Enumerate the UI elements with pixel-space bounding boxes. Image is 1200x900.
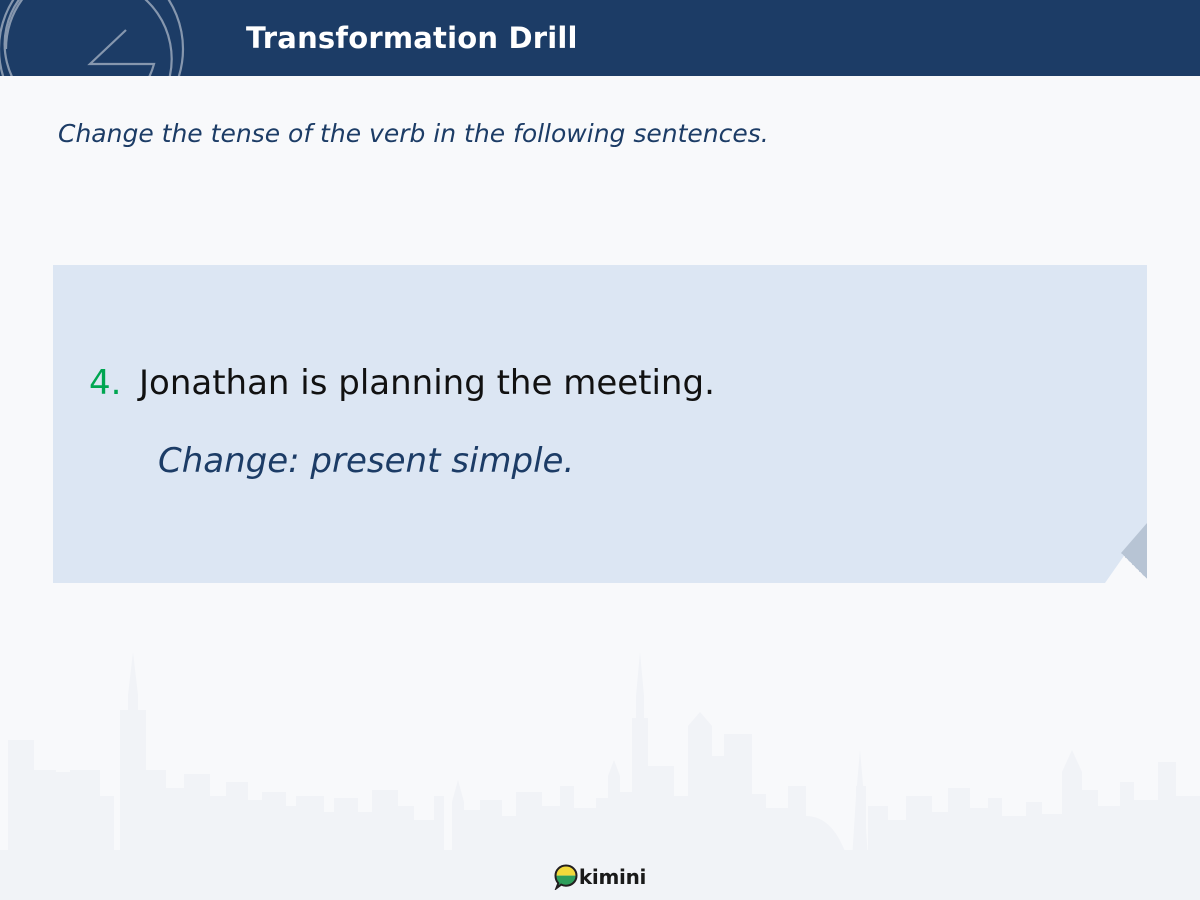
city-skyline-icon <box>0 600 1200 900</box>
slide-root: Transformation Drill Change the tense of… <box>0 0 1200 900</box>
kimini-logo: kimini <box>554 864 646 890</box>
question-row: 4. Jonathan is planning the meeting. <box>89 363 715 403</box>
question-number: 4. <box>89 363 139 403</box>
slide-footer: kimini <box>0 858 1200 896</box>
page-title: Transformation Drill <box>246 0 578 76</box>
slide-header: Transformation Drill <box>0 0 1200 76</box>
g-monogram-icon <box>0 0 196 76</box>
question-sentence: Jonathan is planning the meeting. <box>139 363 715 403</box>
kimini-wordmark: kimini <box>579 865 646 889</box>
card-content: 4. Jonathan is planning the meeting. Cha… <box>53 265 1147 583</box>
question-change-instruction: Change: present simple. <box>158 441 574 481</box>
instruction-text: Change the tense of the verb in the foll… <box>58 119 769 148</box>
kimini-speech-bubble-icon <box>554 864 578 890</box>
question-card: 4. Jonathan is planning the meeting. Cha… <box>53 265 1147 583</box>
